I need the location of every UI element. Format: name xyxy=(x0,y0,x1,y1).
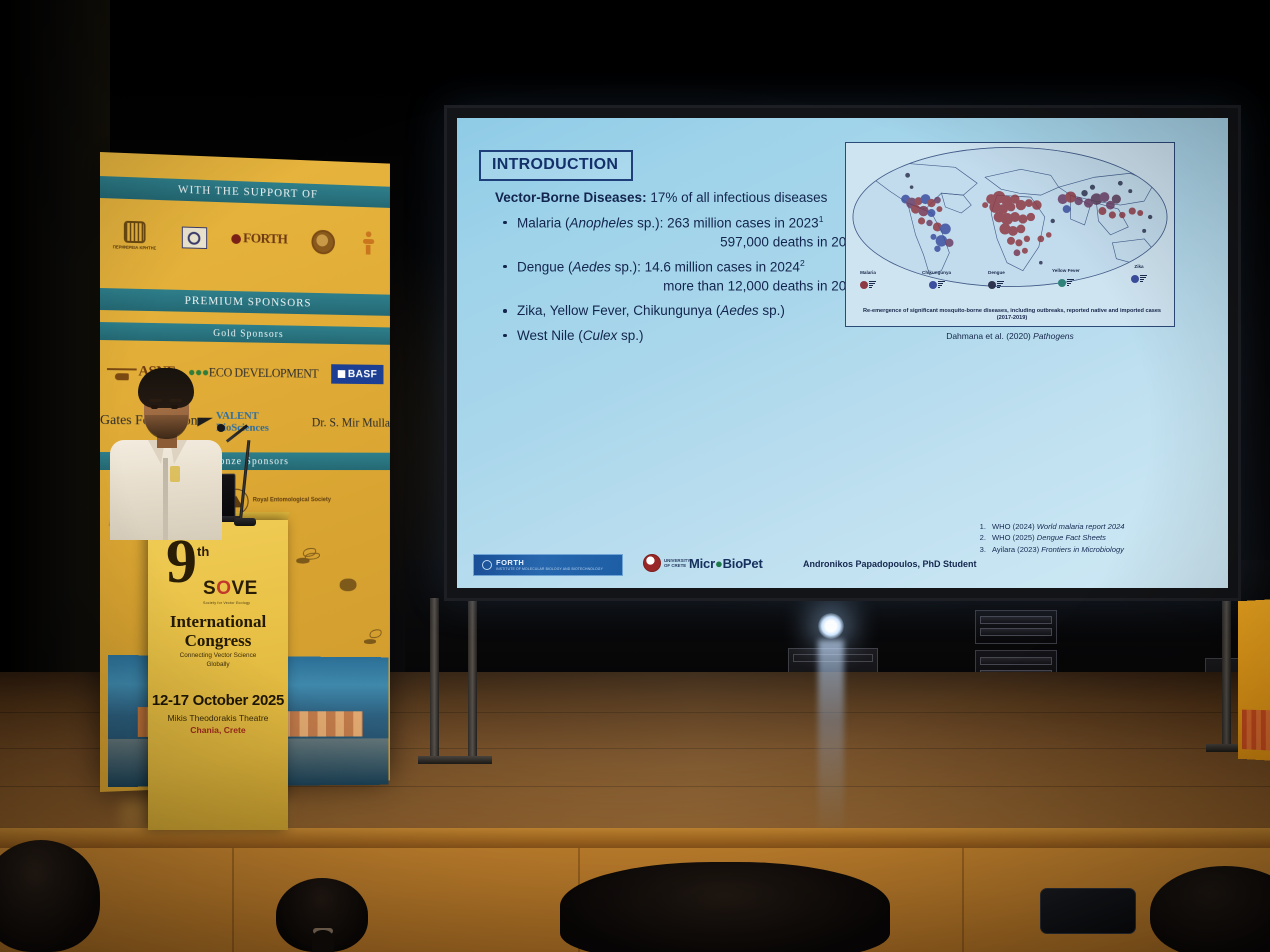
speaker-eye-right xyxy=(171,405,178,409)
basf-wordmark: BASF xyxy=(348,368,377,380)
venue-name: Mikis Theodorakis Theatre xyxy=(168,713,269,723)
map-legend: Malaria Chikungunya xyxy=(846,268,1174,300)
screen-stand-leg xyxy=(468,598,477,756)
university-line-1: UNIVERSITY xyxy=(664,558,690,563)
slide-footer: FORTH INSTITUTE OF MOLECULAR BIOLOGY AND… xyxy=(457,552,1228,580)
list-item: 2. WHO (2025) Dengue Fact Sheets xyxy=(976,532,1206,544)
basf-square-icon xyxy=(338,370,345,378)
tagline-line-1: Connecting Vector Science xyxy=(180,652,257,659)
university-line-2: OF CRETE xyxy=(664,563,686,568)
forth-wordmark: FORTH xyxy=(243,231,287,248)
bullet-genus: Aedes xyxy=(720,303,758,318)
legend-symbol xyxy=(929,281,945,290)
logo-regional-development-fund xyxy=(181,227,206,249)
forth-name: FORTH xyxy=(496,559,603,567)
lab-name-c: t xyxy=(758,556,762,571)
res-wordmark: Royal Entomological Society xyxy=(253,497,331,505)
rack-unit xyxy=(980,657,1052,665)
list-item: 1. WHO (2024) World malaria report 2024 xyxy=(976,521,1206,533)
premium-sponsors-band: PREMIUM SPONSORS xyxy=(100,288,390,316)
legend-label: Chikungunya xyxy=(922,270,951,275)
forth-mark: FORTH xyxy=(232,231,288,248)
lab-name-b: BioPe xyxy=(723,556,759,571)
congress-line-1: International xyxy=(148,612,288,631)
ref-number: 1. xyxy=(976,521,986,533)
lab-name-a: Micr xyxy=(689,556,715,571)
forth-dot-icon xyxy=(232,234,242,244)
bullet-sup: 2 xyxy=(800,258,805,268)
audience-head xyxy=(560,862,890,952)
valent-wordmark: VALENT BioSciences xyxy=(216,410,312,434)
legend-dot xyxy=(860,281,868,289)
bullet-list: Malaria (Anopheles sp.): 263 million cas… xyxy=(495,214,870,344)
forth-logo-text: FORTH INSTITUTE OF MOLECULAR BIOLOGY AND… xyxy=(496,559,603,571)
legend-entry-malaria: Malaria xyxy=(860,270,876,294)
sove-pre: S xyxy=(203,578,216,599)
legend-size-bars xyxy=(1140,275,1147,284)
bullet-post: sp.) xyxy=(617,328,643,343)
figure-caption: Re-emergence of significant mosquito-bor… xyxy=(860,308,1164,323)
forth-logo: FORTH INSTITUTE OF MOLECULAR BIOLOGY AND… xyxy=(473,554,623,576)
logo-dr-mir-mulla: Dr. S. Mir Mulla xyxy=(312,415,390,430)
logo-sove-seal xyxy=(312,229,336,254)
bullet-pre: Zika, Yellow Fever, Chikungunya ( xyxy=(517,303,720,318)
legend-symbol xyxy=(988,281,1004,290)
bullet-second: more than 12,000 deaths in 2024 xyxy=(663,279,861,294)
bullet-pre: Dengue ( xyxy=(517,259,573,274)
slide-body: Vector-Borne Diseases: 17% of all infect… xyxy=(495,190,870,344)
sove-logo: SOVE Society for Vector Ecology xyxy=(203,578,258,605)
speaker-eyebrow-left xyxy=(149,399,162,402)
ref-work: Dengue Fact Sheets xyxy=(1037,533,1106,542)
list-item: Dengue (Aedes sp.): 14.6 million cases i… xyxy=(495,258,870,295)
reference-list: 1. WHO (2024) World malaria report 2024 … xyxy=(976,521,1206,556)
legend-entry-chikungunya: Chikungunya xyxy=(922,270,951,294)
stage-spotlight xyxy=(818,613,844,639)
tagline-line-2: Globally xyxy=(206,661,229,668)
speaker-shirt-placket xyxy=(163,458,168,540)
bullet-sup: 1 xyxy=(819,214,824,224)
audience-ponytail xyxy=(312,930,334,952)
legend-label: Zika xyxy=(1131,264,1147,269)
sove-subtitle: Society for Vector Ecology xyxy=(203,601,258,605)
sove-mid: O xyxy=(216,578,231,599)
microphone-base xyxy=(234,518,256,526)
bullet-pre: West Nile ( xyxy=(517,328,583,343)
legend-symbol xyxy=(1131,275,1147,284)
legend-dot xyxy=(1058,279,1066,287)
bullet-second: 597,000 deaths in 2023 xyxy=(720,234,861,249)
bullet-genus: Anopheles xyxy=(570,215,634,230)
sove-seal-icon xyxy=(312,229,336,254)
microbiopest-logo: Micr●BioPet xyxy=(689,556,763,571)
list-item: West Nile (Culex sp.) xyxy=(495,327,870,345)
legend-label: Yellow Fever xyxy=(1052,268,1080,273)
speaker-beard xyxy=(145,415,188,439)
legend-size-bars xyxy=(997,281,1004,290)
logo-basf: BASF xyxy=(331,364,384,384)
sove-post: VE xyxy=(231,578,257,599)
lead-line: Vector-Borne Diseases: 17% of all infect… xyxy=(495,190,870,207)
list-item: Zika, Yellow Fever, Chikungunya (Aedes s… xyxy=(495,302,870,320)
legend-size-bars xyxy=(1067,279,1074,288)
bullet-subline: more than 12,000 deaths in 20242 xyxy=(517,277,870,295)
congress-line-2: Congress xyxy=(148,631,288,650)
forth-subtitle: INSTITUTE OF MOLECULAR BIOLOGY AND BIOTE… xyxy=(496,567,603,571)
ref-text: WHO (2024) World malaria report 2024 xyxy=(992,521,1125,533)
podium: 9 th SOVE Society for Vector Ecology Int… xyxy=(148,520,288,830)
lab-globe-icon: ● xyxy=(715,556,723,571)
ref-source: WHO (2024) xyxy=(992,522,1037,531)
slide-section-title: INTRODUCTION xyxy=(479,150,633,181)
dates-text: 12-17 October 2025 xyxy=(152,692,284,709)
legend-dot xyxy=(1131,275,1139,283)
ref-text: WHO (2025) Dengue Fact Sheets xyxy=(992,532,1106,544)
rack-unit xyxy=(980,628,1052,636)
gold-sponsors-band: Gold Sponsors xyxy=(100,322,390,345)
legend-size-bars xyxy=(869,281,876,290)
venue-city: Chania, Crete xyxy=(190,725,245,735)
ref-number: 2. xyxy=(976,532,986,544)
congress-dates: 12-17 October 2025 xyxy=(148,692,288,710)
legend-dot xyxy=(929,281,937,289)
bullet-genus: Culex xyxy=(583,328,618,343)
bullet-post: sp.): 263 million cases in 2023 xyxy=(633,215,818,230)
stage-scene: INTRODUCTION Vector-Borne Diseases: 17% … xyxy=(0,0,1270,952)
world-map-figure: Malaria Chikungunya xyxy=(845,142,1175,327)
bullet-post: sp.): 14.6 million cases in 2024 xyxy=(611,259,800,274)
secondary-banner-right xyxy=(1238,599,1270,762)
rack-unit xyxy=(980,616,1052,624)
stage-edge xyxy=(0,828,1270,850)
speaker-eye-left xyxy=(151,405,158,409)
legend-label: Dengue xyxy=(988,270,1005,275)
presenter-name: Andronikos Papadopoulos, PhD Student xyxy=(803,559,977,569)
premium-band-label: PREMIUM SPONSORS xyxy=(185,295,312,310)
ordinal-suffix: th xyxy=(197,544,209,559)
slide-content: INTRODUCTION Vector-Borne Diseases: 17% … xyxy=(457,118,1228,588)
projected-slide: INTRODUCTION Vector-Borne Diseases: 17% … xyxy=(457,118,1228,588)
legend-entry-dengue: Dengue xyxy=(988,270,1005,294)
congress-tagline: Connecting Vector Science Globally xyxy=(148,652,288,670)
legend-symbol xyxy=(860,281,876,290)
university-seal-icon xyxy=(643,554,661,572)
list-item: Malaria (Anopheles sp.): 263 million cas… xyxy=(495,214,870,251)
legend-symbol xyxy=(1058,279,1074,288)
university-of-crete-logo: UNIVERSITY OF CRETE xyxy=(643,554,690,572)
congress-title: International Congress xyxy=(148,612,288,650)
screen-stand-leg xyxy=(1222,598,1231,748)
congress-venue: Mikis Theodorakis Theatre Chania, Crete xyxy=(148,713,288,736)
audience-phone xyxy=(1040,888,1136,934)
section-title-text: INTRODUCTION xyxy=(492,156,618,173)
logo-caption: ΠΕΡΙΦΕΡΕΙΑ ΚΡΗΤΗΣ xyxy=(113,245,156,251)
support-band: WITH THE SUPPORT OF xyxy=(100,176,390,208)
banner-artwork xyxy=(1242,710,1270,751)
bullet-subline: 597,000 deaths in 20231 xyxy=(517,233,870,251)
region-crest-icon xyxy=(124,221,146,244)
lead-rest: 17% of all infectious diseases xyxy=(647,190,828,205)
apron-seam xyxy=(962,848,964,952)
university-logo-text: UNIVERSITY OF CRETE xyxy=(664,558,690,569)
bullet-genus: Aedes xyxy=(573,259,611,274)
logo-region-of-crete: ΠΕΡΙΦΕΡΕΙΑ ΚΡΗΤΗΣ xyxy=(113,221,156,251)
spiral-icon xyxy=(181,227,206,249)
logo-forth: FORTH xyxy=(232,231,288,248)
screen-stand-leg xyxy=(430,598,439,760)
forth-emblem-icon xyxy=(482,560,492,570)
legend-entry-zika: Zika xyxy=(1131,264,1147,288)
figure-credit: Dahmana et al. (2020) Pathogens xyxy=(845,331,1175,341)
podium-sign: 9 th SOVE Society for Vector Ecology Int… xyxy=(148,520,288,750)
screen-stand-foot xyxy=(418,756,492,764)
credit-author: Dahmana et al. (2020) xyxy=(946,331,1033,341)
speaker-hair xyxy=(138,368,194,408)
person-icon xyxy=(359,231,378,255)
supporter-logo-row: ΠΕΡΙΦΕΡΕΙΑ ΚΡΗΤΗΣ FORTH xyxy=(100,210,390,268)
legend-entry-yellow-fever: Yellow Fever xyxy=(1052,268,1080,292)
support-band-label: WITH THE SUPPORT OF xyxy=(178,184,318,201)
legend-dot xyxy=(988,281,996,289)
speaker-person xyxy=(104,368,226,538)
credit-journal: Pathogens xyxy=(1033,331,1074,341)
logo-public-health xyxy=(359,231,378,255)
bullet-pre: Malaria ( xyxy=(517,215,570,230)
legend-label: Malaria xyxy=(860,270,876,275)
bullet-post: sp.) xyxy=(759,303,785,318)
ordinal-number: 9 xyxy=(166,538,197,588)
lead-bold: Vector-Borne Diseases: xyxy=(495,190,647,205)
apron-seam xyxy=(232,848,234,952)
spotlight-reflection xyxy=(818,640,844,840)
equipment-rack xyxy=(975,610,1057,644)
speaker-badge xyxy=(170,466,180,482)
projection-screen: INTRODUCTION Vector-Borne Diseases: 17% … xyxy=(444,105,1241,601)
ref-source: WHO (2025) xyxy=(992,533,1037,542)
ref-work: World malaria report 2024 xyxy=(1037,522,1125,531)
sove-wordmark: SOVE xyxy=(203,578,258,599)
legend-size-bars xyxy=(938,281,945,290)
gold-band-label: Gold Sponsors xyxy=(213,328,284,340)
speaker-eyebrow-right xyxy=(169,399,182,402)
